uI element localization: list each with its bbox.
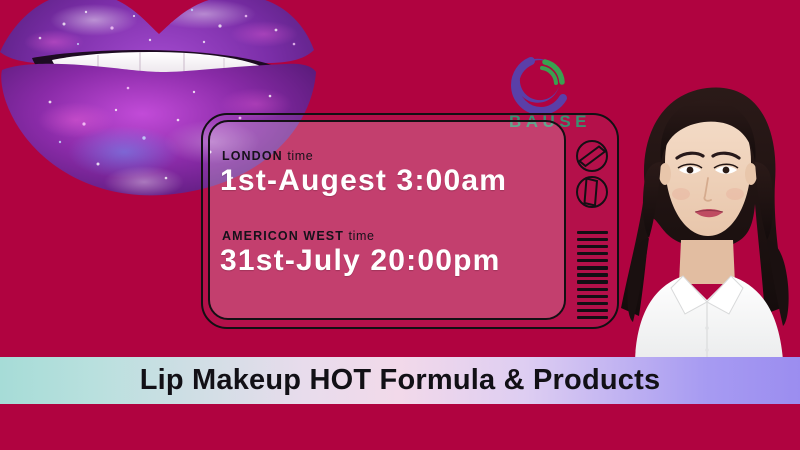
tv-tuner-knob-icon[interactable] — [575, 139, 609, 173]
banner-title: Lip Makeup HOT Formula & Products — [140, 364, 661, 397]
tv-screen: LONDON time 1st-Augest 3:00am AMERICON W… — [208, 120, 566, 320]
timezone-value-americon-west: 31st-July 20:00pm — [220, 245, 501, 277]
tv-control-panel — [573, 123, 613, 319]
timezone-suffix-americon-west: time — [349, 229, 375, 243]
presenter-artwork — [615, 78, 800, 360]
tv-speaker-grille-icon — [577, 231, 608, 319]
presenter-photo — [615, 78, 800, 360]
tv-volume-knob-icon[interactable] — [575, 175, 609, 209]
retro-tv: LONDON time 1st-Augest 3:00am AMERICON W… — [201, 113, 619, 329]
timezone-suffix-london: time — [287, 149, 313, 163]
timezone-value-london: 1st-Augest 3:00am — [220, 165, 507, 197]
bottom-strip — [0, 404, 800, 450]
bottom-banner: Lip Makeup HOT Formula & Products — [0, 357, 800, 404]
timezone-label-americon-west: AMERICON WEST time — [222, 230, 501, 243]
promo-card: BAUSE LONDON time 1st-Augest 3:00am AMER… — [0, 0, 800, 450]
timezone-region-london: LONDON — [222, 149, 283, 163]
timezone-block-americon-west: AMERICON WEST time 31st-July 20:00pm — [218, 230, 501, 276]
screen-content: LONDON time 1st-Augest 3:00am AMERICON W… — [210, 122, 564, 318]
timezone-region-americon-west: AMERICON WEST — [222, 229, 344, 243]
bause-swirl-logo-icon — [507, 52, 571, 118]
timezone-label-london: LONDON time — [222, 150, 507, 163]
timezone-block-london: LONDON time 1st-Augest 3:00am — [218, 150, 507, 196]
